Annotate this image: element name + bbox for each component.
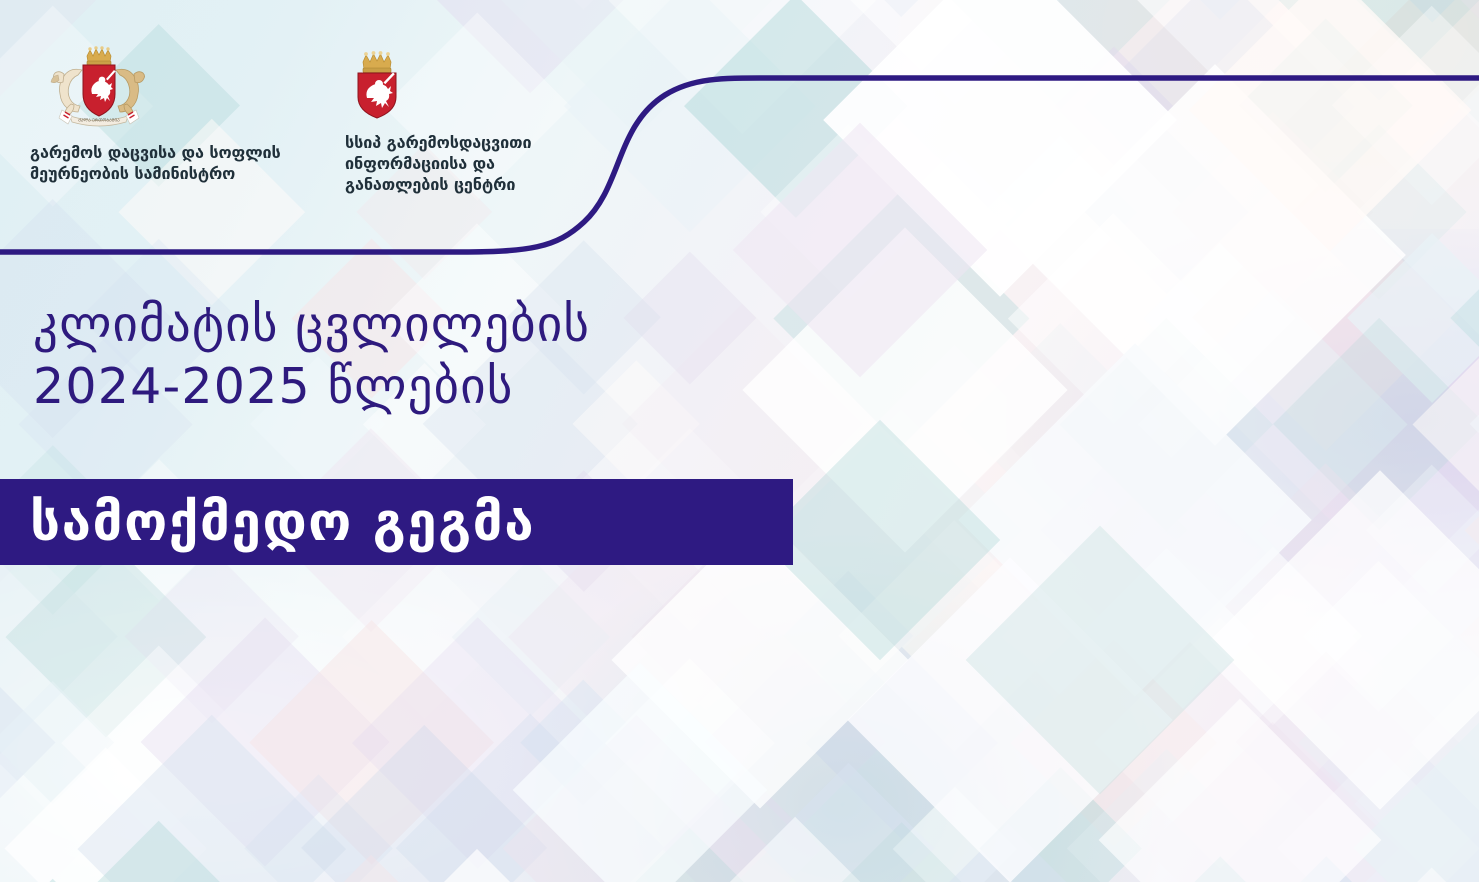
georgia-coat-of-arms-full-icon: ᲫᲐᲚᲐ ᲔᲠᲗᲝᲑᲐᲨᲘᲐ — [40, 42, 158, 130]
logo-ministry-label: გარემოს დაცვისა და სოფლის მეურნეობის სამ… — [30, 142, 312, 184]
georgia-shield-crown-icon — [349, 48, 405, 120]
logo-center: სსიპ გარემოსდაცვითი ინფორმაციისა და განა… — [345, 48, 600, 195]
logo-row: ᲫᲐᲚᲐ ᲔᲠᲗᲝᲑᲐᲨᲘᲐ გარემოს დაცვისა და სოფლის… — [0, 0, 600, 195]
page-title: კლიმატის ცვლილების 2024-2025 წლების — [33, 294, 590, 418]
svg-text:ᲫᲐᲚᲐ ᲔᲠᲗᲝᲑᲐᲨᲘᲐ: ᲫᲐᲚᲐ ᲔᲠᲗᲝᲑᲐᲨᲘᲐ — [78, 118, 120, 124]
logo-ministry: ᲫᲐᲚᲐ ᲔᲠᲗᲝᲑᲐᲨᲘᲐ გარემოს დაცვისა და სოფლის… — [30, 42, 312, 184]
title-banner-label: სამოქმედო გეგმა — [30, 496, 535, 549]
cover-page: ᲫᲐᲚᲐ ᲔᲠᲗᲝᲑᲐᲨᲘᲐ გარემოს დაცვისა და სოფლის… — [0, 0, 1479, 882]
title-banner: სამოქმედო გეგმა — [0, 479, 793, 565]
background-glow-teal — [503, 529, 1183, 882]
logo-center-label: სსიპ გარემოსდაცვითი ინფორმაციისა და განა… — [345, 132, 600, 195]
